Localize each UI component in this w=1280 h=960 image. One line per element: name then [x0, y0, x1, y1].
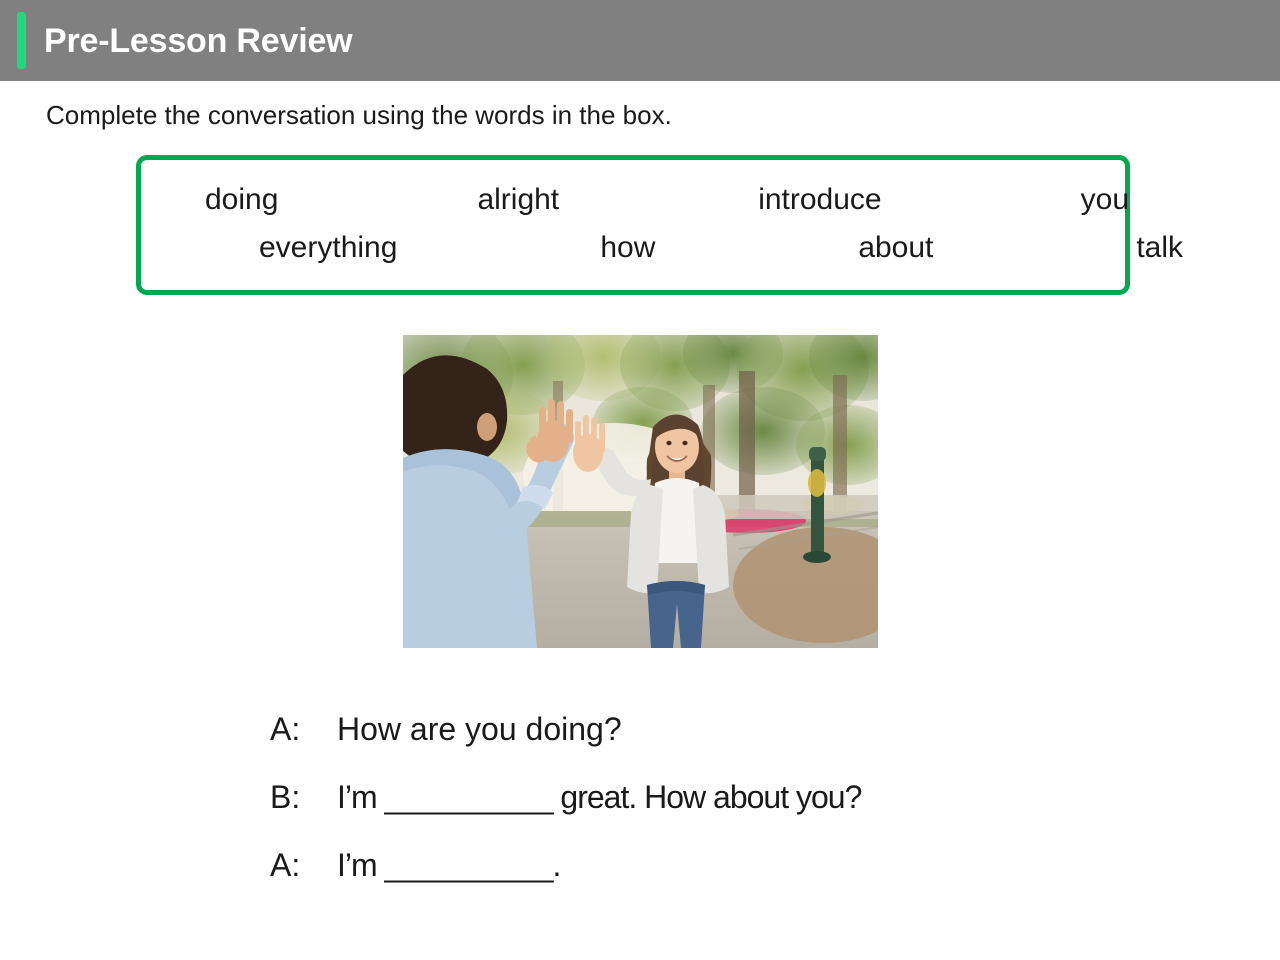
word-bank-box: doing alright introduce you everything h… — [136, 155, 1130, 295]
word-bank-item[interactable]: how — [600, 224, 655, 272]
header-bar: Pre-Lesson Review — [0, 0, 1280, 81]
page-title: Pre-Lesson Review — [44, 24, 352, 58]
lesson-illustration — [403, 335, 878, 648]
word-spacer — [655, 224, 858, 272]
word-bank-item[interactable]: everything — [259, 224, 397, 272]
dialogue-text[interactable]: How are you doing? — [337, 706, 622, 752]
word-spacer — [882, 176, 1081, 224]
header-accent-bar — [17, 12, 26, 69]
word-bank-item[interactable]: talk — [1136, 224, 1183, 272]
speaker-label: A: — [270, 706, 337, 752]
speaker-label: A: — [270, 842, 337, 888]
dialogue-line: A: How are you doing? — [270, 706, 861, 774]
word-spacer — [397, 224, 600, 272]
word-bank-item[interactable]: doing — [205, 176, 278, 224]
dialogue-text[interactable]: I’m __________ great. How about you? — [337, 774, 861, 820]
dialogue-text[interactable]: I’m __________. — [337, 842, 560, 888]
dialogue-line: A: I’m __________. — [270, 842, 861, 910]
instruction-text: Complete the conversation using the word… — [46, 98, 672, 132]
word-bank-item[interactable]: about — [858, 224, 933, 272]
word-spacer — [559, 176, 758, 224]
dialogue-block: A: How are you doing? B: I’m __________ … — [270, 706, 861, 910]
word-bank-item[interactable]: introduce — [758, 176, 881, 224]
word-bank-row-1: doing alright introduce you — [171, 176, 1139, 224]
speaker-label: B: — [270, 774, 337, 820]
word-bank-item[interactable]: alright — [477, 176, 559, 224]
word-bank-row-2: everything how about talk — [171, 224, 1237, 272]
word-spacer — [278, 176, 477, 224]
word-spacer — [933, 224, 1136, 272]
word-bank-item[interactable]: you — [1081, 176, 1129, 224]
dialogue-line: B: I’m __________ great. How about you? — [270, 774, 861, 842]
